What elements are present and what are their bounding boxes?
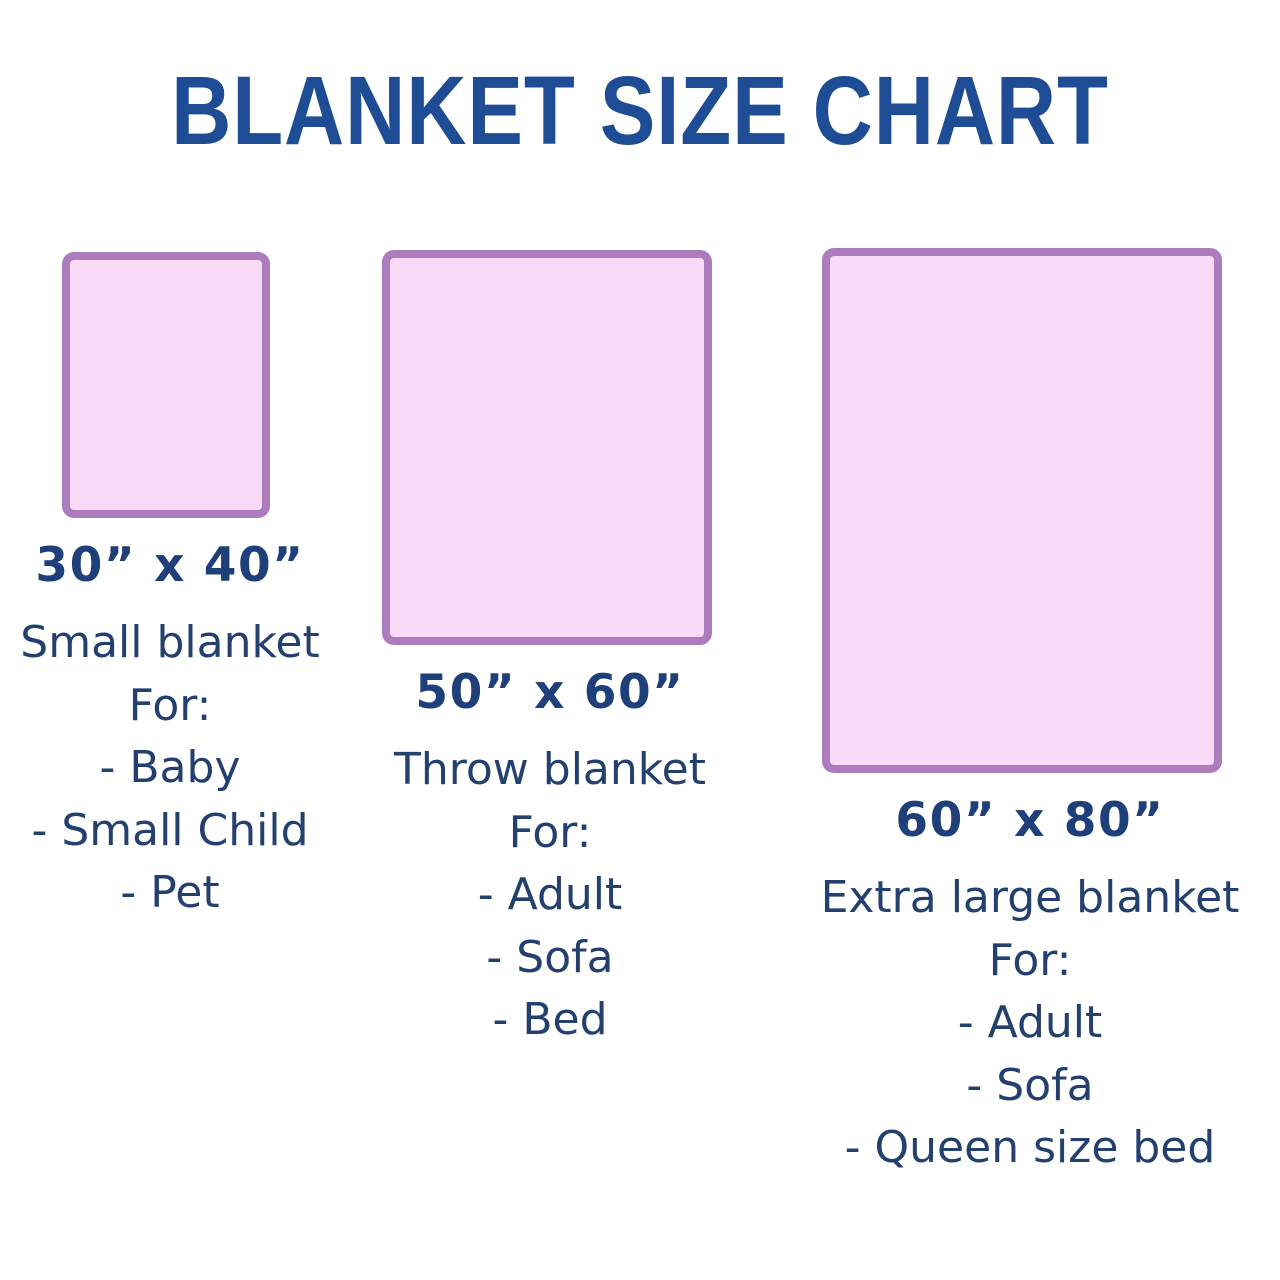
size-caption-xlarge: 60” x 80” Extra large blanket For: - Adu… <box>780 791 1280 1180</box>
use-item: - Bed <box>350 989 750 1051</box>
dimension-label-small: 30” x 40” <box>0 536 340 596</box>
use-list-small: - Baby - Small Child - Pet <box>0 737 340 924</box>
use-item: - Small Child <box>0 800 340 862</box>
use-item: - Sofa <box>350 927 750 989</box>
for-label-xlarge: For: <box>780 930 1280 992</box>
use-item: - Pet <box>0 862 340 924</box>
size-columns: 30” x 40” Small blanket For: - Baby - Sm… <box>0 0 1280 1280</box>
size-name-small: Small blanket <box>0 612 340 674</box>
use-list-xlarge: - Adult - Sofa - Queen size bed <box>780 992 1280 1179</box>
for-label-small: For: <box>0 675 340 737</box>
blanket-swatch-xlarge <box>822 248 1222 773</box>
dimension-label-xlarge: 60” x 80” <box>780 791 1280 851</box>
use-item: - Sofa <box>780 1055 1280 1117</box>
size-caption-small: 30” x 40” Small blanket For: - Baby - Sm… <box>0 536 340 925</box>
size-name-throw: Throw blanket <box>350 739 750 801</box>
use-item: - Adult <box>780 992 1280 1054</box>
use-item: - Baby <box>0 737 340 799</box>
use-item: - Queen size bed <box>780 1117 1280 1179</box>
use-item: - Adult <box>350 864 750 926</box>
size-caption-throw: 50” x 60” Throw blanket For: - Adult - S… <box>350 663 750 1052</box>
dimension-label-throw: 50” x 60” <box>350 663 750 723</box>
size-name-xlarge: Extra large blanket <box>780 867 1280 929</box>
blanket-swatch-throw <box>382 250 712 645</box>
use-list-throw: - Adult - Sofa - Bed <box>350 864 750 1051</box>
blanket-swatch-small <box>62 252 270 518</box>
for-label-throw: For: <box>350 802 750 864</box>
blanket-size-chart-page: BLANKET SIZE CHART 30” x 40” Small blank… <box>0 0 1280 1280</box>
